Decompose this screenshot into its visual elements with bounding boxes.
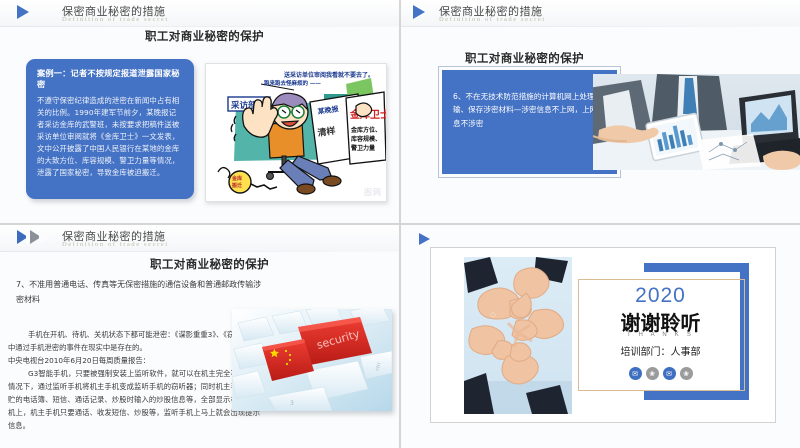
body-paragraph-1: 手机在开机、待机、关机状态下都可能泄密：《谍影重重3》、《窃听风云》中通过手机泄… [8,329,260,355]
weibo-icon[interactable]: ❀ [646,367,659,380]
svg-text:警卫力量: 警卫力量 [350,144,375,152]
play-triangle-icon [419,233,430,245]
keyboard-security-photo: security ctrl 3 图网 [232,309,392,411]
year-label: 2020 [578,284,743,308]
slide3-header-bar [0,225,399,251]
keyboard-photo-svg: security ctrl 3 [232,309,392,411]
play-triangle-icon [413,5,425,19]
meeting-photo-svg [593,74,800,170]
blue-frame-top [644,263,749,272]
svg-text:跑来跑去怪麻烦的 ——: 跑来跑去怪麻烦的 —— [264,79,321,87]
share-icon[interactable]: ❀ [680,367,693,380]
slide3-header-rule [0,251,399,252]
wechat-icon[interactable]: ✉ [629,367,642,380]
header-title-en: Definition of trade secret [62,241,169,248]
svg-text:◇: ◇ [490,310,497,319]
lead-text: 7、不准用普通电话、传真等无保密措施的通信设备和普通邮政传输涉密材料 [16,278,266,308]
blue-frame-bottom [644,391,749,400]
svg-text:搬迁: 搬迁 [231,182,242,189]
body-paragraph-2: 中央电视台2010年6月20日每周质量报告： [8,356,150,365]
svg-text:金库方位、: 金库方位、 [350,126,381,134]
meeting-photo [593,74,800,170]
page-title: 职工对商业秘密的保护 [465,50,584,66]
slide-thumbnail-grid: 保密商业秘密的措施 Definition of trade secret 职工对… [0,0,800,448]
play-triangle-icon [17,5,29,19]
case-callout-box: 案例一：记者不按规定报道泄露国家秘密 不遵守保密纪律造成的泄密在新闻中占有相关的… [26,59,194,199]
case-heading: 案例一：记者不按规定报道泄露国家秘密 [37,68,183,90]
body-text: 手机在开机、待机、关机状态下都可能泄密：《谍影重重3》、《窃听风云》中通过手机泄… [8,329,260,433]
svg-text:库容规模、: 库容规模、 [351,135,381,143]
qq-icon[interactable]: ✉ [663,367,676,380]
chevron-notch2-icon [39,230,50,244]
page-title: 职工对商业秘密的保护 [145,28,264,44]
svg-text:送采访单位审阅我看就不要去了。: 送采访单位审阅我看就不要去了。 [283,71,374,79]
social-icon-row: ✉ ❀ ✉ ❀ [578,367,743,380]
header-title-en: Definition of trade secret [439,16,546,23]
cartoon-svg: 送采访单位审阅我看就不要去了。 跑来跑去怪麻烦的 —— 采访部 [206,64,386,201]
body-paragraph-3: G3智能手机，只要被强制安装上监听软件，就可以在机主完全不知情的情况下，通过监听… [8,368,260,433]
department-label: 培训部门：人事部 [578,343,743,358]
svg-text:3: 3 [290,400,294,407]
thanks-card: ◇ 2020 谢谢聆听 T H A N K S 培训部门：人事部 ✉ ❀ ✉ ❀ [430,247,776,423]
band-text: 6、不在无技术防范措施的计算机网上处理、传输、保存涉密材料—涉密信息不上网，上网… [453,90,611,130]
slide1-header-rule [0,26,399,27]
slide-thumb-1[interactable]: 保密商业秘密的措施 Definition of trade secret 职工对… [0,0,399,223]
slide-thumb-3[interactable]: 保密商业秘密的措施 Definition of trade secret 职工对… [0,225,399,448]
teamwork-photo-svg: ◇ [464,257,572,414]
svg-text:金库: 金库 [231,175,242,182]
thanks-title-en: T H A N K S [578,332,743,338]
page-title: 职工对商业秘密的保护 [150,256,269,272]
slide-thumb-4[interactable]: ◇ 2020 谢谢聆听 T H A N K S 培训部门：人事部 ✉ ❀ ✉ ❀ [401,225,800,448]
case-body: 不遵守保密纪律造成的泄密在新闻中占有相关的比例。1990年建军节前夕，某晚报记者… [37,95,183,179]
cartoon-illustration: 送采访单位审阅我看就不要去了。 跑来跑去怪麻烦的 —— 采访部 [205,63,387,202]
slide1-header-bar [0,0,399,26]
slide-thumb-2[interactable]: 保密商业秘密的措施 Definition of trade secret 职工对… [401,0,800,223]
header-title-en: Definition of trade secret [62,16,169,23]
teamwork-thumbs-photo: ◇ [464,257,572,414]
slide2-header-rule [401,26,800,27]
